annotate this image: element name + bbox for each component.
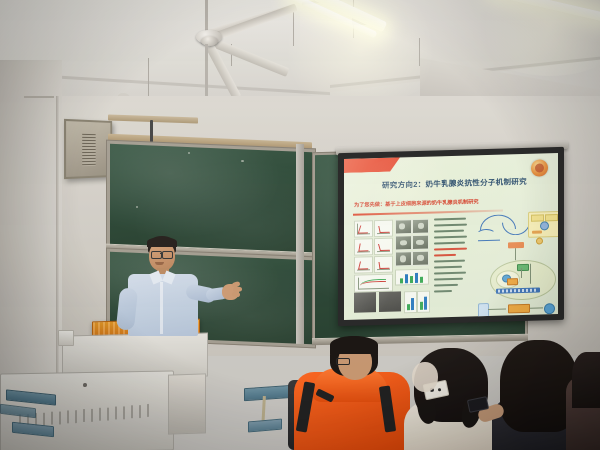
micrograph-cell	[412, 235, 429, 250]
slide-caption-block	[434, 218, 468, 219]
pathway-inset-box	[528, 211, 558, 238]
mastitis-tissue-icon	[544, 303, 555, 314]
slide-banner	[344, 157, 400, 173]
mini-plot	[374, 238, 393, 256]
slide-title: 研究方向2：奶牛乳腺炎抗性分子机制研究	[382, 176, 527, 191]
signal-arrow	[530, 264, 531, 284]
mini-plot	[374, 220, 393, 238]
classroom-photo: f(x) = 2x 研究方向2：奶牛乳腺炎抗性分子机制研究 为了您先做：基于上皮…	[0, 0, 600, 450]
pathway-node	[536, 237, 543, 244]
fan-motor	[201, 36, 218, 46]
audience-hair-top	[330, 336, 378, 354]
hanger-rod	[419, 38, 420, 66]
glasses-icon	[336, 358, 350, 365]
wall-speaker	[64, 119, 112, 179]
audience-hair	[572, 352, 600, 408]
signal-arrow	[521, 268, 522, 278]
presentation-slide[interactable]: 研究方向2：奶牛乳腺炎抗性分子机制研究 为了您先做：基于上皮细胞来源的奶牛乳腺炎…	[344, 153, 558, 320]
podium-side-panel	[168, 373, 206, 434]
outcome-box	[508, 304, 530, 314]
mini-plot	[374, 256, 393, 274]
pathway-diagram	[474, 211, 558, 313]
presenter-finger	[232, 292, 240, 298]
lncrna-strand	[502, 222, 530, 236]
membrane-receptor	[508, 242, 524, 248]
micrograph-cell	[395, 219, 412, 234]
comparison-arrow	[488, 308, 506, 309]
chalk-mark	[241, 160, 244, 162]
wall-corner	[56, 96, 60, 396]
chalk-mark	[136, 206, 138, 208]
wall-rail	[24, 96, 54, 98]
chalk-mark	[188, 152, 190, 154]
shirt-placket	[160, 282, 163, 334]
micrograph-cell	[395, 235, 412, 250]
screen-border: 研究方向2：奶牛乳腺炎抗性分子机制研究 为了您先做：基于上皮细胞来源的奶牛乳腺炎…	[338, 147, 564, 326]
blot-panel	[354, 292, 376, 313]
board-divider	[296, 144, 304, 344]
presenter-hair-top	[147, 237, 177, 247]
mini-plot	[354, 256, 373, 274]
left-wall	[0, 60, 62, 400]
podium-equipment	[58, 330, 74, 346]
partial-audience-head	[412, 362, 438, 392]
signal-arrow	[515, 248, 516, 260]
normal-tissue-icon	[478, 303, 489, 319]
signal-molecule	[517, 264, 529, 271]
bar-chart-small	[417, 291, 430, 313]
micrograph-cell	[412, 219, 429, 234]
mini-plot	[354, 220, 373, 238]
glasses-icon	[162, 251, 173, 259]
presenter-shirt	[128, 274, 198, 336]
bar-chart	[395, 269, 429, 286]
mini-plot	[354, 238, 373, 256]
glasses-bridge	[160, 253, 162, 254]
micrograph-cell	[412, 251, 429, 266]
bar-chart-small	[404, 291, 417, 313]
line-chart	[354, 274, 393, 293]
hanger-rod	[293, 12, 294, 46]
university-logo-icon	[531, 159, 548, 176]
classroom-stool	[248, 419, 282, 433]
slide-subtitle: 为了您先做：基于上皮细胞来源的奶牛乳腺炎机制研究	[354, 198, 479, 208]
podium-knob[interactable]	[83, 383, 87, 387]
lncrna-tail	[478, 240, 500, 242]
micrograph-cell	[395, 251, 412, 266]
gene-box	[507, 278, 518, 285]
comparison-arrow	[530, 307, 543, 308]
blot-panel	[379, 291, 401, 312]
